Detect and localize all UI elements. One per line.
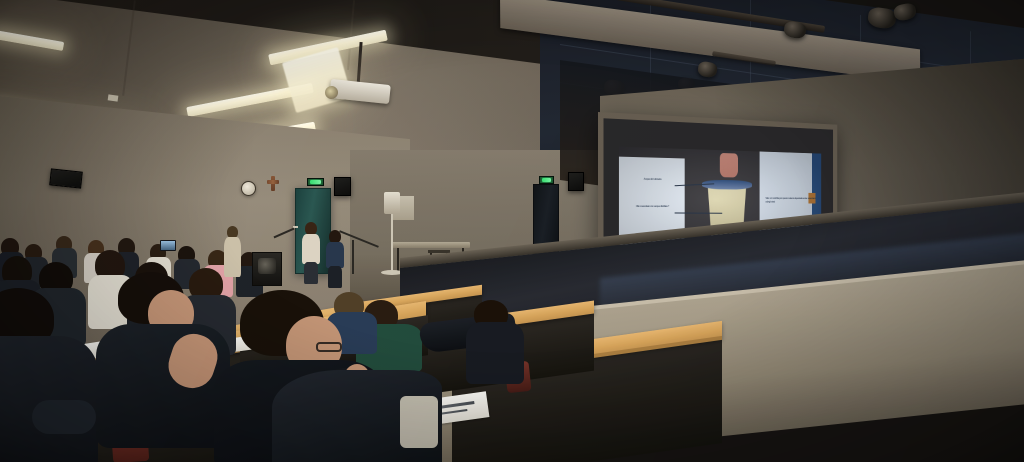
stage-table (392, 242, 470, 248)
wall-clock-icon (241, 181, 256, 196)
audience-person-foreground (0, 288, 96, 462)
standing-person-3 (325, 230, 345, 282)
wall-speaker-left (49, 168, 83, 188)
slide-annotation-1: Acqua del rubinetto (628, 178, 676, 182)
exit-sign-back (307, 178, 324, 186)
slide-annotation-3: Sale non solubile per questo restano dep… (765, 197, 815, 204)
slide-glass-rim (702, 180, 752, 189)
ceiling-vent-3 (108, 94, 119, 101)
bag-strap (400, 396, 438, 448)
exit-sign-right (539, 176, 554, 184)
wall-speaker-right (568, 172, 584, 191)
standing-person-2 (300, 222, 322, 280)
equipment-panel (258, 258, 276, 274)
auditorium-photo: Acqua del rubinetto Olio mescolato con a… (0, 0, 1024, 462)
crucifix-icon (266, 176, 280, 194)
eyeglasses-icon (316, 342, 342, 352)
audience-person-foreground (108, 272, 228, 442)
mic-stand-pole (391, 214, 393, 272)
table-leg (397, 248, 399, 272)
slide-annotation-2: Olio mescolato con acqua distillata ? (626, 205, 679, 209)
stair-post (352, 240, 354, 274)
device-screen[interactable] (160, 240, 176, 251)
audience-person-foreground (272, 370, 442, 462)
slide-hand (720, 153, 738, 177)
audience-person (470, 300, 520, 380)
wall-speaker-center (334, 177, 351, 196)
mic-stand-head (384, 192, 400, 214)
